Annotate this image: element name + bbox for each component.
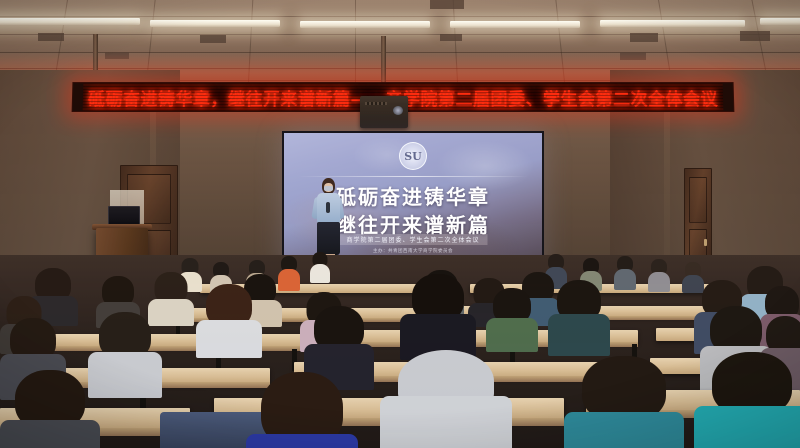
audience-member-foreground [694, 352, 800, 448]
ceiling-light-strip [150, 20, 280, 27]
audience-member [648, 259, 670, 290]
audience-member-foreground [564, 356, 684, 448]
ceiling-light-strip [600, 20, 745, 27]
audience-member [548, 280, 610, 354]
lecture-hall-photo: 砥砺奋进铸华章，继往开来谱新篇——产学院第二届团委、学生会第二次全体会议 SU … [0, 0, 800, 448]
audience-member-foreground [380, 350, 512, 448]
university-emblem-logo: SU [399, 142, 427, 170]
face-mask [324, 186, 333, 191]
audience-member [400, 274, 476, 356]
ceiling-light-strip [0, 18, 140, 25]
projector-vent [365, 102, 387, 105]
audience-member-foreground [246, 372, 358, 448]
speaker-skirt [317, 222, 340, 255]
microphone-icon [326, 202, 330, 213]
slide-subtitle: 商学院第二届团委、学生会第二次全体会议 [338, 234, 487, 245]
audience-member-foreground [0, 370, 100, 448]
ceiling-light-strip [300, 21, 430, 28]
ceiling-light-strip [450, 21, 580, 28]
projector-lens [393, 106, 403, 115]
audience-member [486, 288, 538, 350]
ceiling-light-strip [760, 18, 800, 25]
audience-member [310, 252, 330, 282]
audience-member [614, 256, 636, 289]
logo-label: SU [404, 150, 422, 163]
slide-credit-line1: 主办：共青团西南大学商学院委员会 [373, 248, 453, 254]
projector [360, 96, 408, 128]
audience-member [196, 284, 262, 354]
